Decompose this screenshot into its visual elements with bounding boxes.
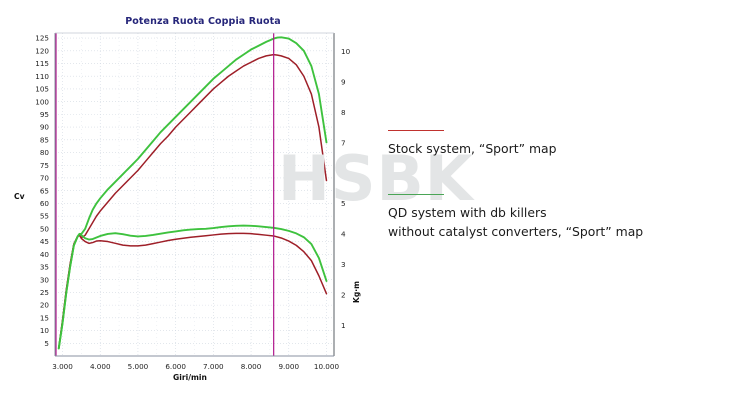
legend-label-stock: Stock system, “Sport” map (388, 141, 556, 156)
svg-text:105: 105 (35, 85, 49, 94)
svg-text:85: 85 (40, 135, 49, 144)
svg-text:35: 35 (40, 263, 49, 272)
series-path-2 (59, 233, 327, 348)
grid-layer (55, 33, 334, 356)
svg-text:6.000: 6.000 (165, 362, 186, 371)
svg-text:120: 120 (35, 46, 49, 55)
svg-text:5: 5 (44, 339, 49, 348)
svg-text:115: 115 (35, 59, 49, 68)
y-axis-label: Cv (14, 192, 25, 201)
svg-text:40: 40 (40, 250, 50, 259)
svg-text:9.000: 9.000 (278, 362, 299, 371)
svg-text:10: 10 (341, 47, 351, 56)
series-path-3 (59, 226, 327, 349)
svg-text:15: 15 (40, 313, 49, 322)
svg-text:60: 60 (40, 199, 50, 208)
svg-text:30: 30 (40, 275, 50, 284)
svg-text:10: 10 (40, 326, 50, 335)
curve-layer (59, 37, 327, 348)
svg-text:7: 7 (341, 138, 346, 147)
secondary-y-axis-label: Kg·m (352, 281, 361, 303)
svg-text:80: 80 (40, 148, 50, 157)
svg-text:100: 100 (35, 97, 49, 106)
tick-label-layer: 5101520253035404550556065707580859095100… (35, 34, 350, 371)
svg-text:95: 95 (40, 110, 49, 119)
svg-text:4: 4 (341, 230, 346, 239)
svg-text:55: 55 (40, 212, 49, 221)
svg-text:65: 65 (40, 186, 49, 195)
legend-label-qd: QD system with db killers without cataly… (388, 205, 643, 240)
svg-text:25: 25 (40, 288, 49, 297)
x-axis-label: Giri/min (173, 373, 207, 382)
svg-text:4.000: 4.000 (90, 362, 111, 371)
chart-legend: Stock system, “Sport” map QD system with… (388, 130, 718, 241)
svg-text:70: 70 (40, 174, 50, 183)
series-path-1 (59, 37, 327, 348)
svg-text:90: 90 (40, 123, 50, 132)
svg-text:1: 1 (341, 321, 346, 330)
svg-text:6: 6 (341, 169, 346, 178)
legend-swatch-green-line-icon (388, 194, 444, 195)
svg-text:110: 110 (35, 72, 49, 81)
dyno-plot: 5101520253035404550556065707580859095100… (0, 0, 373, 390)
svg-text:20: 20 (40, 301, 50, 310)
svg-text:8.000: 8.000 (241, 362, 262, 371)
svg-text:125: 125 (35, 34, 49, 43)
svg-text:5.000: 5.000 (128, 362, 149, 371)
dyno-chart-panel: Potenza Ruota Coppia Ruota 5101520253035… (0, 0, 373, 390)
legend-item-stock: Stock system, “Sport” map (388, 130, 718, 158)
legend-item-qd: QD system with db killers without cataly… (388, 194, 718, 241)
svg-text:9: 9 (341, 77, 346, 86)
svg-text:10.000: 10.000 (314, 362, 340, 371)
svg-text:45: 45 (40, 237, 49, 246)
legend-swatch-red-line-icon (388, 130, 444, 131)
svg-text:3: 3 (341, 260, 346, 269)
svg-text:50: 50 (40, 224, 50, 233)
svg-text:2: 2 (341, 291, 346, 300)
svg-text:3.000: 3.000 (52, 362, 73, 371)
screenshot-root: Potenza Ruota Coppia Ruota 5101520253035… (0, 0, 730, 407)
svg-text:5: 5 (341, 199, 346, 208)
svg-text:8: 8 (341, 108, 346, 117)
svg-text:75: 75 (40, 161, 49, 170)
svg-text:7.000: 7.000 (203, 362, 224, 371)
